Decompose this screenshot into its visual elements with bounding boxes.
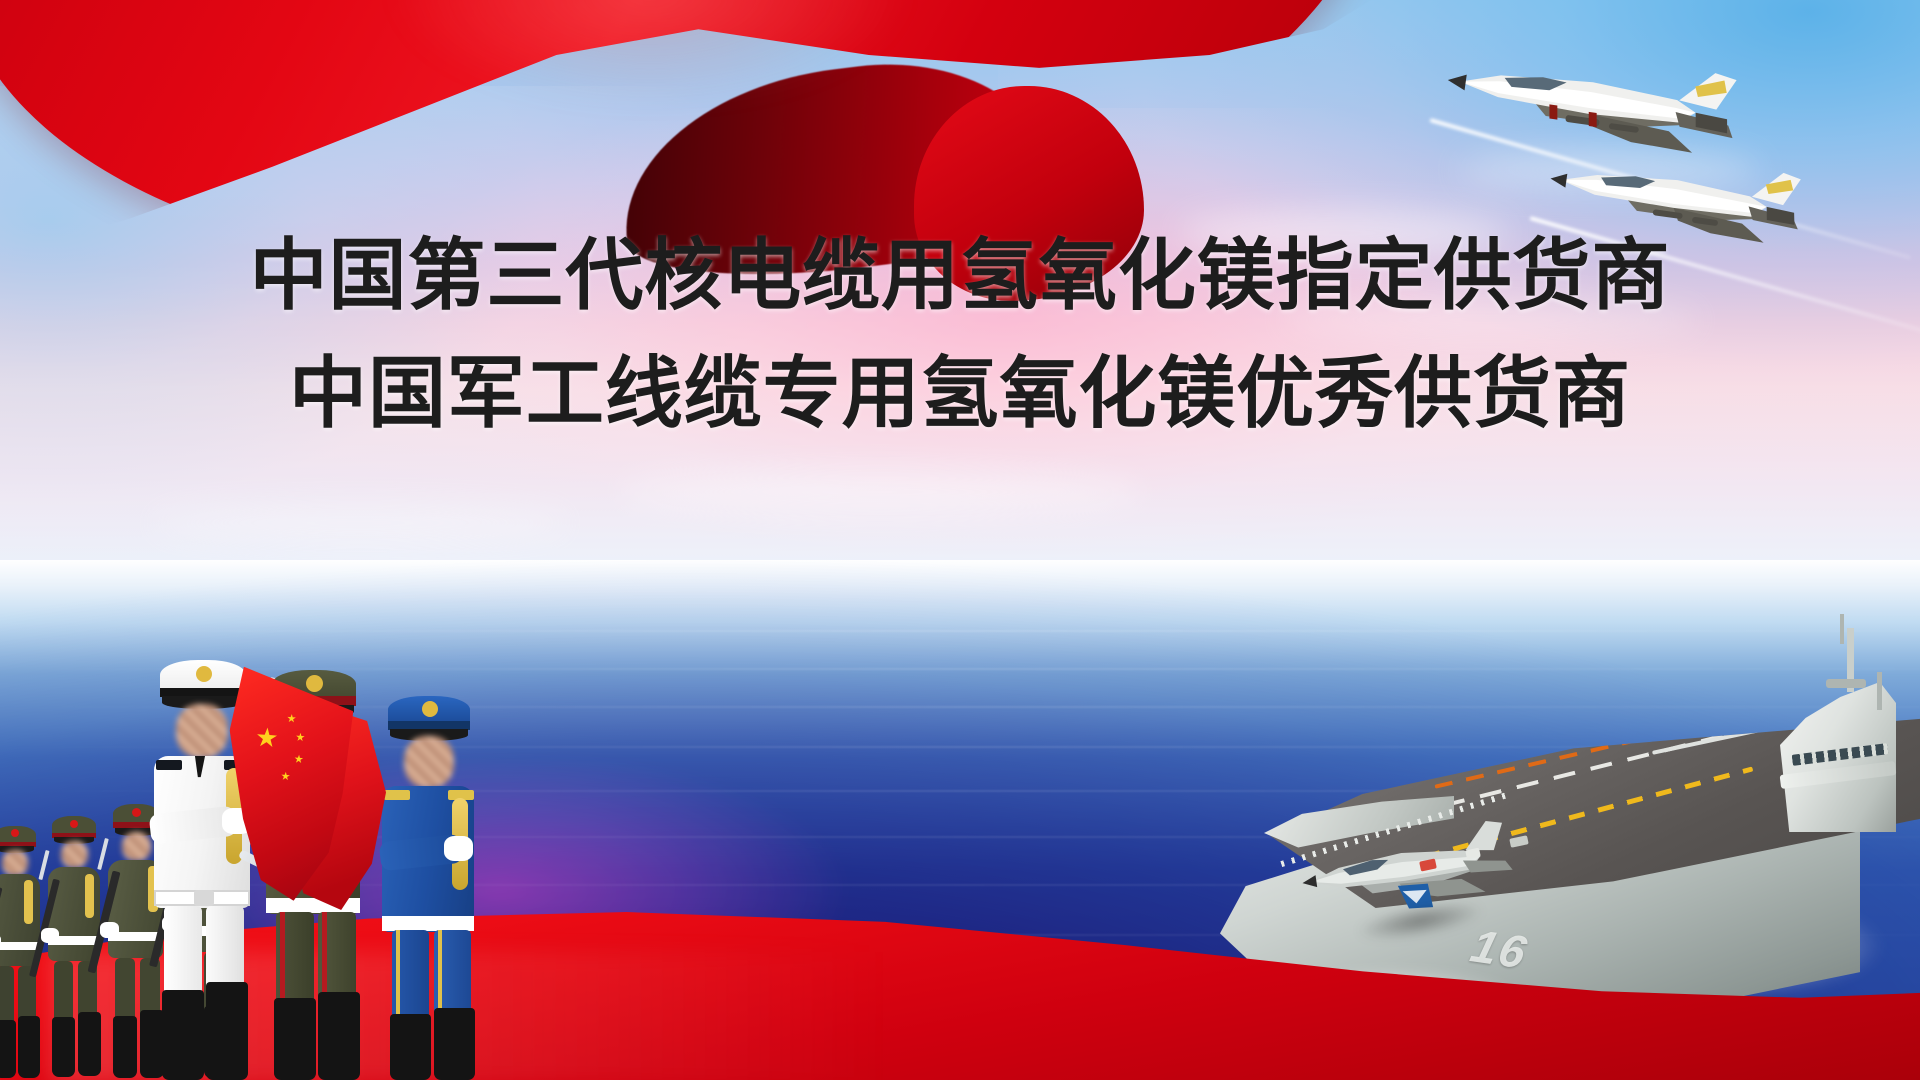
army-trouser-stripe (280, 912, 285, 1004)
army-cap-emblem (306, 675, 323, 692)
deck-edge-line (1406, 711, 1814, 816)
flag-small-star: ★ (280, 772, 291, 784)
airforce-cap-emblem (422, 701, 438, 717)
airforce-shoulder-board (384, 790, 410, 800)
honor-guard-airforce (368, 678, 490, 1080)
deck-orange-line (1434, 699, 1805, 788)
cloud-5 (150, 505, 570, 541)
navy-shoulder-board (156, 760, 182, 770)
navy-belt-buckle (194, 890, 214, 906)
carrier-antenna-side (1877, 672, 1882, 710)
carrier-radar-array (1826, 679, 1866, 688)
carrier-antenna-upper (1840, 614, 1844, 644)
airforce-trouser-stripe (396, 930, 400, 1020)
army-trouser-stripe (322, 912, 327, 1000)
flag-highlight (340, 0, 960, 110)
airforce-trouser-stripe (438, 930, 442, 1016)
airforce-white-glove (444, 836, 473, 861)
honor-guard-color-party: ★ ★ ★ ★ ★ (0, 610, 520, 1080)
flag-small-star: ★ (293, 754, 304, 766)
red-flag-ribbon (0, 0, 1380, 270)
flag-small-star: ★ (295, 732, 306, 744)
flag-fold-lobe (914, 86, 1144, 301)
promo-banner: 16 (0, 0, 1920, 1080)
flag-big-star: ★ (254, 724, 279, 752)
cloud-3 (1280, 300, 1700, 340)
navy-cap-emblem (196, 666, 212, 682)
flag-small-star: ★ (286, 714, 297, 726)
cloud-4 (620, 470, 1140, 514)
